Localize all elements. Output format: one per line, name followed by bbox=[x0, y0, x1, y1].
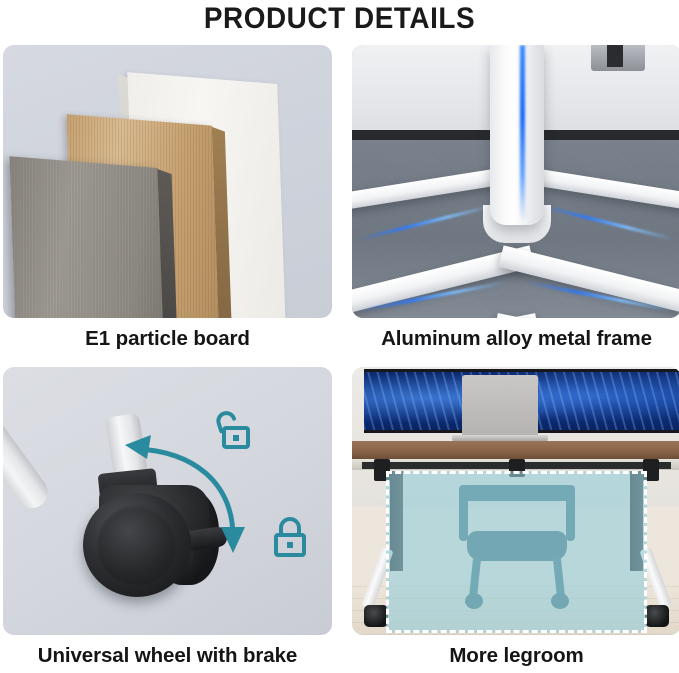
lock-icon bbox=[270, 515, 310, 559]
page-title: PRODUCT DETAILS bbox=[24, 2, 655, 36]
desk-caster-right bbox=[645, 605, 669, 627]
product-details-page: PRODUCT DETAILS E1 particle board bbox=[0, 0, 679, 673]
monitor-foot bbox=[591, 45, 645, 71]
unlock-icon bbox=[214, 409, 254, 451]
feature-cell-particle-board: E1 particle board bbox=[3, 45, 332, 355]
laptop bbox=[462, 375, 538, 437]
column-blue-highlight bbox=[520, 45, 525, 221]
caption-universal-wheel: Universal wheel with brake bbox=[3, 643, 332, 669]
universal-wheel-photo bbox=[3, 367, 332, 635]
desk-caster-left bbox=[364, 605, 388, 627]
caption-metal-frame: Aluminum alloy metal frame bbox=[352, 326, 679, 352]
more-legroom-photo bbox=[352, 367, 679, 635]
caption-more-legroom: More legroom bbox=[352, 643, 679, 669]
frame-column bbox=[490, 45, 544, 225]
desk-leg-upper bbox=[3, 374, 54, 514]
particle-board-photo bbox=[3, 45, 332, 318]
feature-cell-more-legroom: More legroom bbox=[352, 367, 679, 670]
caption-particle-board: E1 particle board bbox=[3, 326, 332, 352]
feature-cell-metal-frame: Aluminum alloy metal frame bbox=[352, 45, 679, 355]
feature-grid: E1 particle board bbox=[3, 45, 676, 670]
legroom-highlight-box bbox=[386, 471, 647, 633]
desk-tabletop bbox=[352, 441, 679, 459]
feature-cell-universal-wheel: Universal wheel with brake bbox=[3, 367, 332, 670]
gray-board-sample bbox=[9, 156, 164, 318]
metal-frame-photo bbox=[352, 45, 679, 318]
